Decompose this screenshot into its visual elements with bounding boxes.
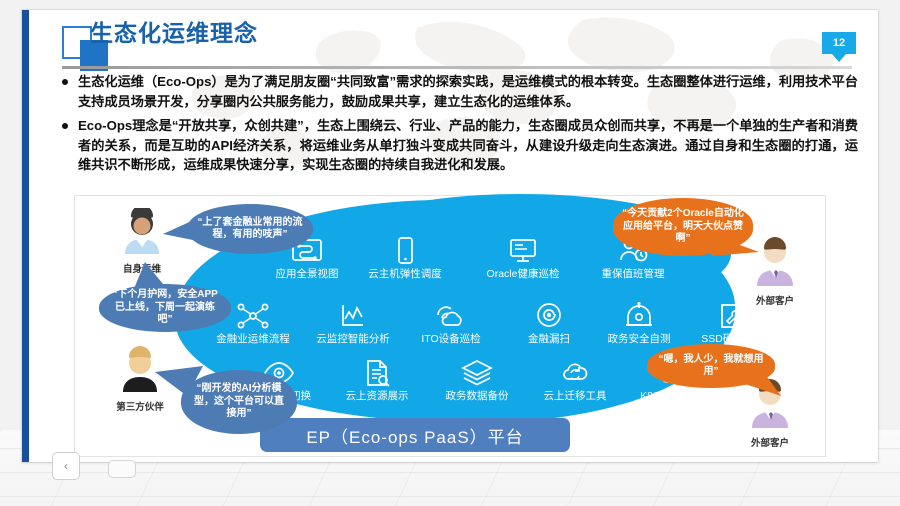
previous-slide-button[interactable]: ‹ — [52, 452, 80, 480]
platform-bar: EP（Eco-ops PaaS）平台 — [260, 418, 570, 452]
capability-item[interactable]: 政务安全自测 — [589, 301, 689, 345]
capability-label: 政务安全自测 — [589, 333, 689, 345]
chart-analysis-icon — [336, 301, 370, 331]
avatar-blue-shirt — [119, 208, 165, 254]
capability-label: 云主机弹性调度 — [359, 268, 451, 280]
monitor-icon — [506, 236, 540, 266]
capability-label: 云监控智能分析 — [307, 333, 399, 345]
callout-customer-top: “今天贡献2个Oracle自动化应用给平台，明天大伙点赞啊” — [613, 198, 753, 256]
ecosystem-diagram: 应用全景视图 云主机弹性调度 Oracle健康巡检 — [74, 195, 826, 457]
avatar-black-shirt — [117, 346, 163, 392]
capability-label: 应用全景视图 — [261, 268, 353, 280]
page-title: 生态化运维理念 — [90, 14, 258, 48]
security-shield-icon — [622, 301, 656, 331]
callout-customer-bottom: “嗯，我人少，我就想用用” — [647, 344, 775, 388]
person-label: 外部客户 — [735, 435, 805, 449]
wireless-cloud-icon — [434, 301, 468, 331]
callout-self-ops-bottom: “下个月护网，安全APP已上线，下周一起演练吧” — [99, 284, 231, 332]
capability-item[interactable]: 政务数据备份 — [431, 358, 523, 402]
title-divider — [62, 66, 852, 69]
capability-label: SSD硬盘预警 — [683, 333, 783, 345]
capability-item[interactable]: 云上资源展示 — [331, 358, 423, 402]
capability-item[interactable]: 金融漏扫 — [503, 301, 595, 345]
callout-third-party: “刚开发的AI分析模型，这个平台可以直接用” — [181, 370, 297, 434]
avatar-customer-top: 外部客户 — [740, 236, 810, 307]
capability-label: 政务数据备份 — [431, 390, 523, 402]
capability-label: 云上迁移工具 — [529, 390, 621, 402]
avatar-third-party: 第三方伙伴 — [105, 346, 175, 413]
capability-item[interactable]: 云主机弹性调度 — [359, 236, 451, 280]
slide-left-accent-bar — [22, 10, 29, 462]
capability-label: ITO设备巡检 — [405, 333, 497, 345]
capability-label: 云上资源展示 — [331, 390, 423, 402]
page-number-badge: 12 — [822, 32, 856, 54]
person-label: 自身运维 — [107, 261, 177, 275]
presentation-slide: 生态化运维理念 12 生态化运维（Eco-Ops）是为了满足朋友圈“共同致富”需… — [22, 10, 878, 462]
mobile-device-icon — [388, 236, 422, 266]
person-label: 外部客户 — [740, 293, 810, 307]
capability-label: 金融漏扫 — [503, 333, 595, 345]
capability-item[interactable]: 云监控智能分析 — [307, 301, 399, 345]
avatar-self-ops: 自身运维 — [107, 208, 177, 275]
capability-item[interactable]: Oracle健康巡检 — [469, 236, 577, 280]
person-label: 第三方伙伴 — [105, 399, 175, 413]
cloud-sync-icon — [558, 358, 592, 388]
bullet-list: 生态化运维（Eco-Ops）是为了满足朋友圈“共同致富”需求的探索实践，是运维模… — [58, 72, 858, 180]
capability-label: Oracle健康巡检 — [469, 268, 577, 280]
avatar-purple-shirt — [746, 378, 794, 428]
spiral-scan-icon — [532, 301, 566, 331]
layers-icon — [460, 358, 494, 388]
slide-menu-button[interactable] — [108, 460, 136, 478]
capability-label: K8S一键部署 — [625, 390, 717, 402]
capability-item[interactable]: SSD硬盘预警 — [683, 301, 783, 345]
capability-label: 重保值班管理 — [587, 268, 679, 280]
avatar-purple-shirt — [751, 236, 799, 286]
capability-item[interactable]: 云上迁移工具 — [529, 358, 621, 402]
callout-self-ops-top: “上了套金融业常用的流程，有用的吱声” — [187, 204, 313, 254]
slide-viewer: 生态化运维理念 12 生态化运维（Eco-Ops）是为了满足朋友圈“共同致富”需… — [0, 0, 900, 506]
avatar-customer-bottom: 外部客户 — [735, 378, 805, 449]
capability-item[interactable]: ITO设备巡检 — [405, 301, 497, 345]
capability-label: 金融业运维流程 — [201, 333, 305, 345]
document-search-icon — [360, 358, 394, 388]
bullet-item-2: Eco-Ops理念是“开放共享，众创共建”，生态上围绕云、行业、产品的能力，生态… — [58, 116, 858, 175]
bullet-item-1: 生态化运维（Eco-Ops）是为了满足朋友圈“共同致富”需求的探索实践，是运维模… — [58, 72, 858, 111]
network-nodes-icon — [236, 301, 270, 331]
